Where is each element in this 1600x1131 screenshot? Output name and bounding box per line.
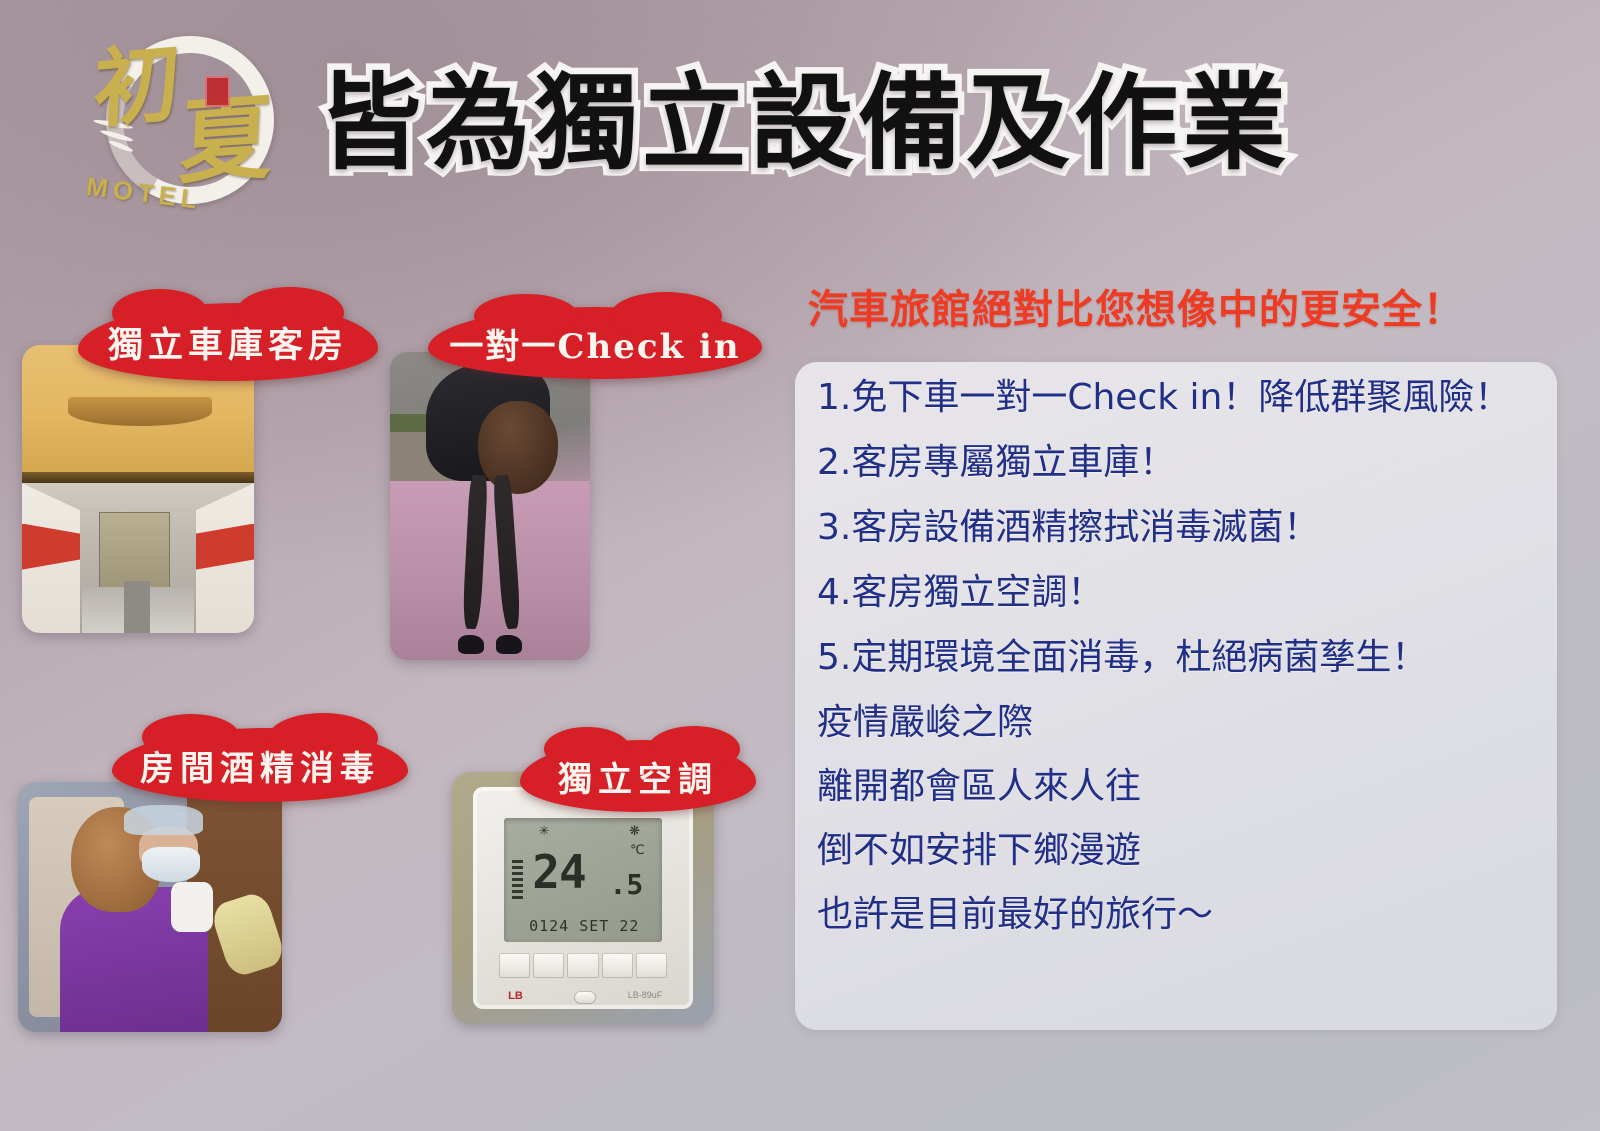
garage-ledge xyxy=(68,397,212,426)
photo-room-disinfection xyxy=(18,782,282,1032)
photo-one-to-one-checkin xyxy=(390,352,590,660)
label-text: 房間酒精消毒 xyxy=(140,741,380,790)
label-text: 一對一Check in xyxy=(449,319,740,368)
thermostat-level-bars xyxy=(512,860,523,915)
label-text: 獨立車庫客房 xyxy=(108,317,348,368)
staff-shoe-left xyxy=(458,635,484,653)
face-mask-icon xyxy=(142,847,200,882)
staff-shoe-right xyxy=(496,635,522,653)
highlight-headline: 汽車旅館絕對比您想像中的更安全！ xyxy=(808,277,1464,335)
prose-line: 疫情嚴峻之際 xyxy=(817,705,1543,741)
poster-canvas: 初 夏 MOTEL 皆為獨立設備及作業 汽車旅館絕對比您想像中的更安全！ 1.免… xyxy=(0,0,1600,1131)
label-independent-ac: 獨立空調 xyxy=(520,740,756,812)
thermostat-button-row[interactable] xyxy=(499,953,666,977)
thermostat-unit: ℃ xyxy=(630,843,645,858)
thermostat-screen: ✳ ❋ 24 .5 ℃ 0124 SET 22 xyxy=(504,818,662,942)
thermostat-power-button[interactable] xyxy=(574,991,596,1004)
list-item: 1.免下車一對一Check in！降低群聚風險！ xyxy=(817,380,1543,416)
checkin-driveway xyxy=(390,481,590,660)
prose-line: 也許是目前最好的旅行～ xyxy=(817,897,1543,933)
thermostat-status-icons: ✳ ❋ xyxy=(504,823,662,838)
thermostat-button-mode[interactable] xyxy=(567,953,598,977)
thermostat-body: ✳ ❋ 24 .5 ℃ 0124 SET 22 LB LB-89uF xyxy=(473,787,693,1009)
face-shield-icon xyxy=(124,805,203,835)
thermostat-brand-mark: LB xyxy=(508,990,523,1002)
thermostat-button-home[interactable] xyxy=(602,953,633,977)
brand-logo: 初 夏 MOTEL xyxy=(78,18,298,223)
fan-icon: ❋ xyxy=(629,823,640,839)
seal-stamp-icon xyxy=(205,76,230,107)
label-one-to-one-checkin: 一對一Check in xyxy=(428,307,762,379)
logo-char-first: 初 xyxy=(92,40,182,133)
thermostat-button-fan[interactable] xyxy=(636,953,667,977)
thermostat-temperature: 24 xyxy=(532,845,585,899)
list-item: 5.定期環境全面消毒，杜絕病菌孳生！ xyxy=(817,640,1543,676)
feature-list: 1.免下車一對一Check in！降低群聚風險！ 2.客房專屬獨立車庫！ 3.客… xyxy=(817,380,1543,961)
list-item: 4.客房獨立空調！ xyxy=(817,575,1543,611)
thermostat-temperature-fraction: .5 xyxy=(609,868,643,901)
snowflake-icon: ✳ xyxy=(539,823,550,839)
thermostat-button-up[interactable] xyxy=(533,953,564,977)
staff-hair xyxy=(478,401,558,493)
garage-floor-strip xyxy=(124,581,150,633)
list-item: 2.客房專屬獨立車庫！ xyxy=(817,445,1543,481)
photo-independent-garage xyxy=(22,345,254,633)
thermostat-model-label: LB-89uF xyxy=(628,990,663,1000)
spray-bottle-icon xyxy=(171,882,213,932)
label-text: 獨立空調 xyxy=(558,752,718,801)
list-item: 3.客房設備酒精擦拭消毒滅菌！ xyxy=(817,510,1543,546)
label-room-disinfection: 房間酒精消毒 xyxy=(112,728,408,802)
label-independent-garage: 獨立車庫客房 xyxy=(78,303,378,381)
thermostat-button-down[interactable] xyxy=(499,953,530,977)
page-title: 皆為獨立設備及作業 xyxy=(318,62,1290,185)
prose-line: 倒不如安排下鄉漫遊 xyxy=(817,833,1543,869)
thermostat-sub-readout: 0124 SET 22 xyxy=(529,917,639,935)
prose-line: 離開都會區人來人往 xyxy=(817,769,1543,805)
feature-list-panel: 1.免下車一對一Check in！降低群聚風險！ 2.客房專屬獨立車庫！ 3.客… xyxy=(795,362,1557,1030)
